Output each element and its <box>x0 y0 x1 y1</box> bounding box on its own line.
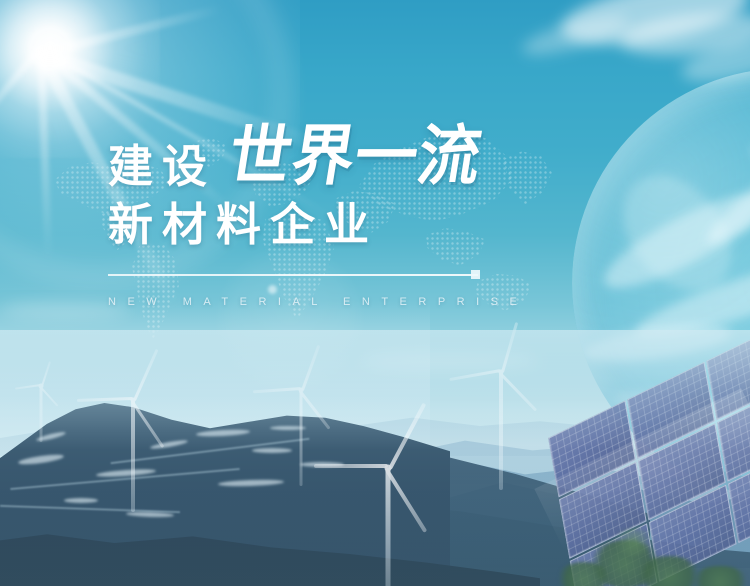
solar-panel <box>706 324 750 420</box>
headline-accent: 世界一流 <box>224 124 486 190</box>
banner-copy: 建设 世界一流 新材料企业 NEW MATERIAL ENTERPRISE <box>108 128 628 308</box>
divider <box>108 274 478 276</box>
headline-prefix: 建设 <box>108 144 216 190</box>
headline-line-2: 新材料企业 <box>108 202 628 248</box>
subtitle: NEW MATERIAL ENTERPRISE <box>108 296 628 308</box>
divider-cap <box>471 270 480 279</box>
headline-line-1: 建设 世界一流 <box>108 128 628 190</box>
foliage <box>612 528 656 556</box>
headline-line2-text: 新材料企业 <box>108 199 378 250</box>
hero-banner: 建设 世界一流 新材料企业 NEW MATERIAL ENTERPRISE <box>0 0 750 586</box>
